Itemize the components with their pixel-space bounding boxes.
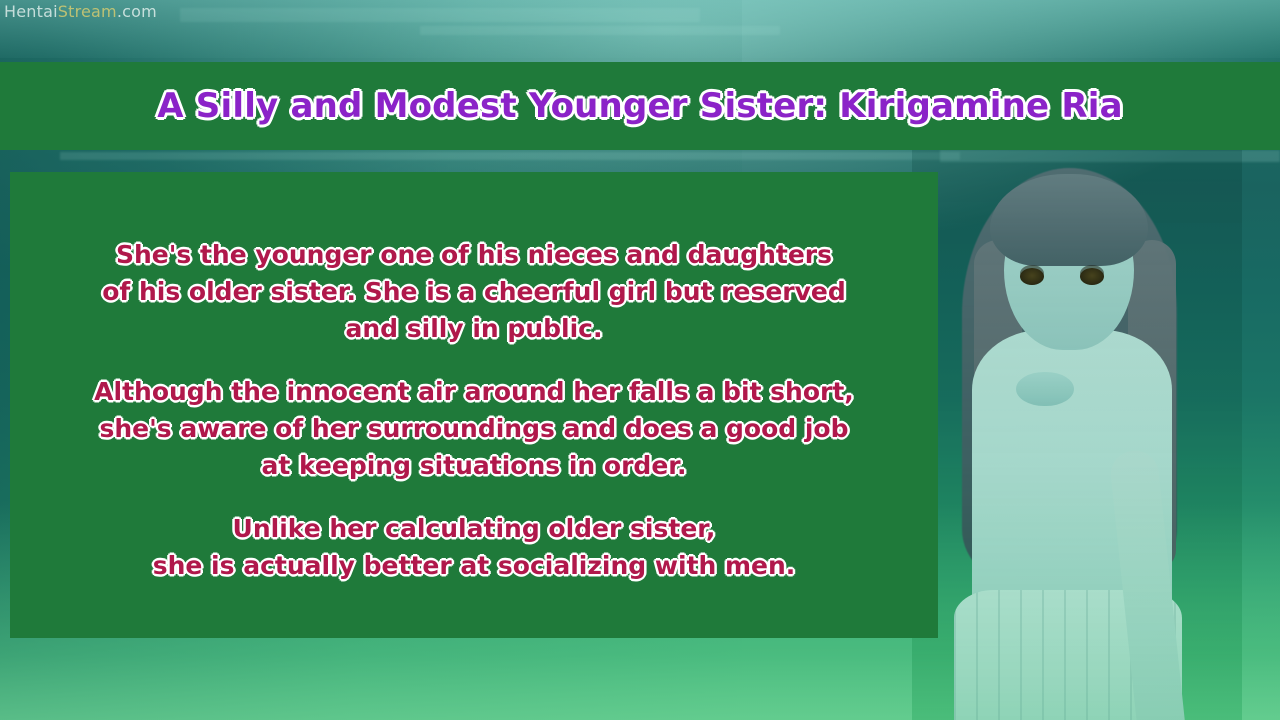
description-paragraph-2: Although the innocent air around her fal… (10, 373, 938, 484)
screenshot-stage: HentaiStream.com A Silly and Modest Youn… (0, 0, 1280, 720)
watermark-suffix: .com (117, 2, 157, 21)
background-streak (180, 8, 700, 22)
site-watermark: HentaiStream.com (4, 2, 157, 21)
watermark-middle: Stream (58, 2, 117, 21)
description-panel: She's the younger one of his nieces and … (10, 172, 938, 638)
description-paragraph-3: Unlike her calculating older sister, she… (10, 510, 938, 584)
background-streak (940, 150, 1280, 162)
title-bar: A Silly and Modest Younger Sister: Kirig… (0, 62, 1280, 150)
background-streak (60, 152, 960, 160)
description-paragraph-1: She's the younger one of his nieces and … (10, 236, 938, 347)
background-streak (420, 26, 780, 35)
watermark-prefix: Hentai (4, 2, 58, 21)
page-title: A Silly and Modest Younger Sister: Kirig… (157, 86, 1122, 126)
